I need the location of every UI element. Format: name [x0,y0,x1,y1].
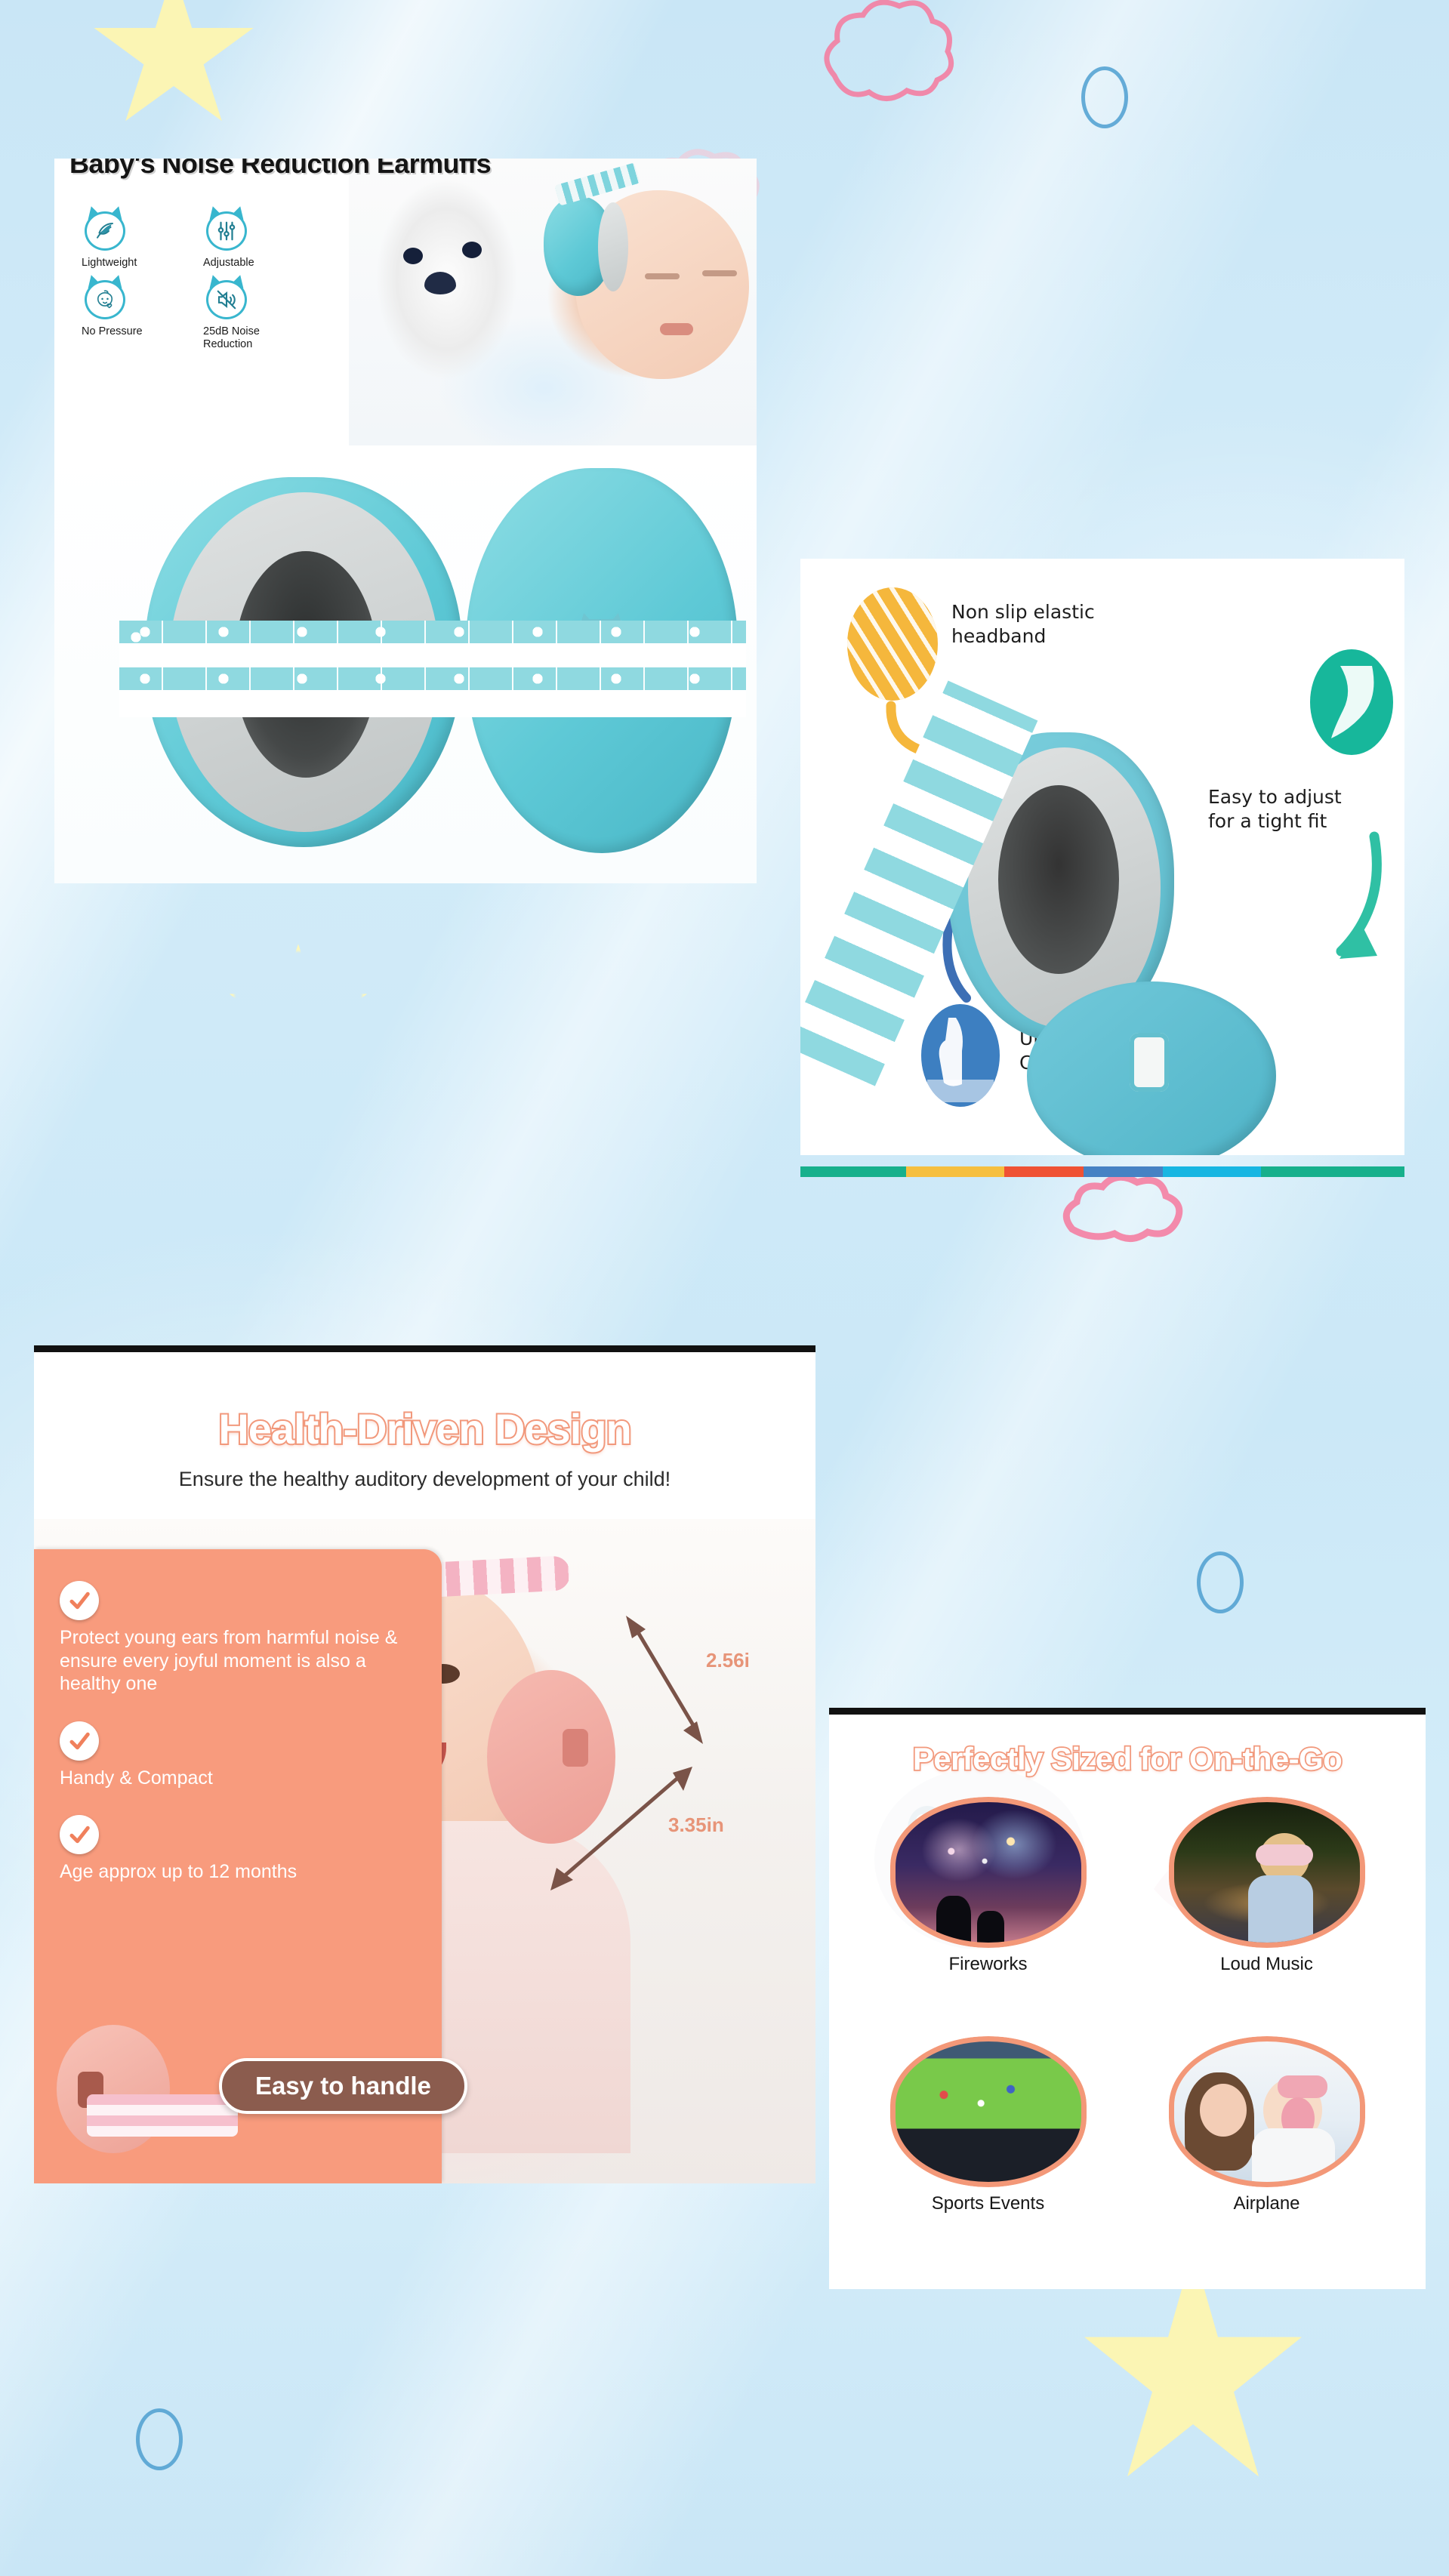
bar-segment [1261,1166,1404,1177]
feature-adjustable: Adjustable [203,207,308,270]
dimension-label-width: 3.35in [668,1813,724,1837]
hero-photo [349,159,757,445]
arrow-down-green-icon [1284,830,1389,981]
page-title: Baby's Noise Reduction Earmuffs [69,159,491,180]
feature-lightweight: Lightweight [82,207,187,270]
easy-to-handle-badge: Easy to handle [219,2058,467,2114]
scenario-image-airplane [1169,2036,1365,2187]
on-the-go-panel: Perfectly Sized for On-the-Go Fireworks … [829,1708,1426,2289]
scenario-sports-events: Sports Events [849,2036,1127,2276]
worn-earmuff-pad [598,202,628,291]
scenario-grid: Fireworks Loud Music Sports Events [849,1797,1406,2276]
teddy-nose-icon [424,272,456,294]
dimension-label-height: 2.56i [706,1649,750,1672]
check-icon [60,1815,99,1854]
bar-segment [1163,1166,1261,1177]
scenario-image-fireworks [890,1797,1087,1948]
feature-label: 25dB Noise Reduction [203,325,308,351]
product-photo-panel [54,445,757,883]
sliders-icon [203,207,250,254]
check-icon [60,1721,99,1761]
feature-label: Lightweight [82,257,187,270]
teddy-eye-icon [462,242,482,258]
teddy-eye-icon [403,248,423,264]
circle-outline-decoration [1081,66,1128,128]
scenario-caption: Fireworks [948,1954,1027,1975]
feather-icon [82,207,128,254]
color-accent-bar [800,1166,1404,1177]
dimension-arrow-height [623,1614,714,1750]
scenario-loud-music: Loud Music [1127,1797,1406,2036]
soft-touch-icon [921,1004,1000,1107]
callout-earmuff-slot [1130,1033,1169,1092]
feature-noise-reduction: 25dB Noise Reduction [203,276,308,351]
scenario-caption: Sports Events [932,2193,1044,2214]
baby-face-icon [82,276,128,322]
callout-text-adjust: Easy to adjust for a tight fit [1208,785,1342,834]
scenario-image-sports [890,2036,1087,2187]
scenario-caption: Loud Music [1220,1954,1313,1975]
pink-earmuff-thumbnail-band [87,2094,238,2137]
baby-mouth [660,323,693,335]
adjust-icon [1310,649,1393,755]
section-title-on-the-go: Perfectly Sized for On-the-Go [829,1741,1426,1777]
callout-text-headband: Non slip elastic headband [951,600,1095,649]
circle-outline-decoration [136,2408,183,2470]
scenario-fireworks: Fireworks [849,1797,1127,2036]
bar-segment [800,1166,906,1177]
baby-eye-closed [645,273,680,279]
bar-segment [1004,1166,1084,1177]
callout-panel: Non slip elastic headband Easy to adjust… [800,559,1404,1155]
mute-speaker-icon [203,276,250,322]
scenario-airplane: Airplane [1127,2036,1406,2276]
cloud-outline-decoration [1050,1169,1208,1267]
benefit-text: Age approx up to 12 months [60,1860,416,1884]
baby-eye-closed [702,270,737,276]
circle-outline-decoration [1197,1551,1244,1613]
section-subtitle-health: Ensure the healthy auditory development … [34,1468,815,1491]
bar-segment [1084,1166,1163,1177]
benefit-text: Protect young ears from harmful noise & … [60,1626,416,1696]
bar-segment [906,1166,1004,1177]
callout-earmuff-cavity [998,785,1119,974]
hero-panel: Lightweight Adjustable [54,159,757,445]
product-photo [54,445,757,883]
feature-label: No Pressure [82,325,187,338]
check-icon [60,1581,99,1620]
section-title-health: Health-Driven Design [34,1404,815,1453]
cloud-outline-decoration [789,0,970,136]
scenario-image-loud-music [1169,1797,1365,1948]
benefit-text: Handy & Compact [60,1767,416,1790]
scenario-caption: Airplane [1233,2193,1299,2214]
feature-label: Adjustable [203,257,308,270]
earmuff-headband-dots [119,621,746,717]
feature-grid: Lightweight Adjustable [82,207,308,351]
striped-band-icon [847,587,938,701]
health-design-panel: Health-Driven Design Ensure the healthy … [34,1345,815,2183]
feature-no-pressure: No Pressure [82,276,187,351]
